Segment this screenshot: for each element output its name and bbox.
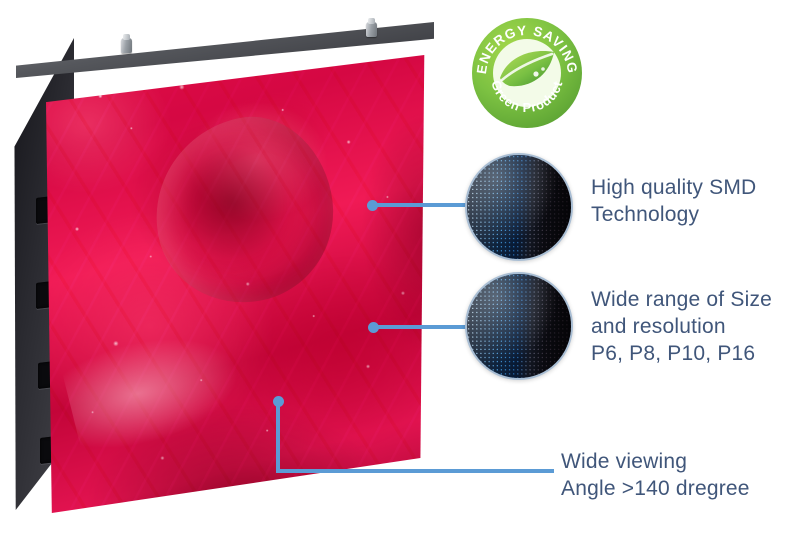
led-pixel-matrix-icon: [465, 272, 573, 380]
water-droplets: [46, 55, 434, 513]
led-pixel-matrix-icon: [465, 153, 573, 261]
circle-gloss: [467, 155, 571, 259]
led-screen-face: [46, 55, 434, 513]
feature-label-smd-technology: High quality SMD Technology: [591, 174, 756, 228]
leader-line-viewing-angle-vertical: [276, 401, 280, 473]
leader-line-smd-technology: [375, 203, 471, 207]
leader-line-size-resolution: [376, 325, 471, 329]
feature-label-viewing-angle: Wide viewing Angle >140 dregree: [561, 448, 750, 502]
mount-bolt-icon: [121, 38, 132, 53]
product-feature-diagram: ENERGY SAVING Green Product High quality…: [0, 0, 798, 547]
leader-line-viewing-angle-horizontal: [276, 469, 554, 473]
mount-bolt-icon: [366, 22, 377, 37]
led-panel-assembly: [0, 0, 440, 520]
circle-gloss: [467, 274, 571, 378]
feature-label-size-resolution: Wide range of Size and resolution P6, P8…: [591, 286, 772, 367]
energy-saving-badge: ENERGY SAVING Green Product: [470, 16, 584, 130]
